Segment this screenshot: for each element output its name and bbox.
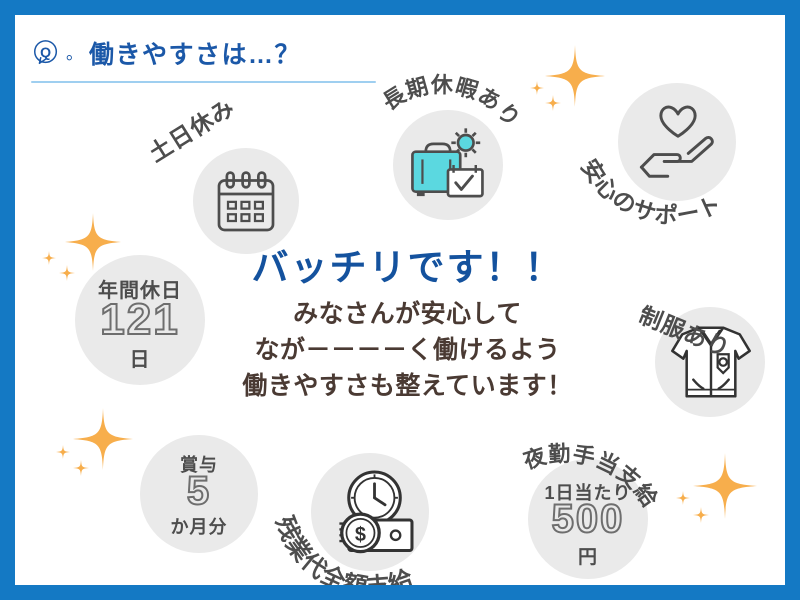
stat-value: 5 xyxy=(140,471,258,511)
badge-caption: 夜勤手当支給 xyxy=(520,441,663,512)
badge-caption: 長期休暇あり xyxy=(378,72,526,132)
badge-night-allowance: 1日当たり 500 円 夜勤手当支給 xyxy=(510,427,700,585)
header: Q 。 働きやすさは…？ xyxy=(31,31,391,93)
badge-caption-arc: 長期休暇あり xyxy=(373,47,563,237)
center-line-3: 働きやすさも整えています！ xyxy=(230,368,585,404)
center-line-1: みなさんが安心して xyxy=(230,296,585,332)
q-letter: Q xyxy=(40,44,51,60)
center-line-2: なが－－－－く働けるよう xyxy=(230,332,585,368)
header-maru: 。 xyxy=(65,45,85,62)
badge-caption-arc: 残業代全額支給 xyxy=(263,455,478,585)
center-message: バッチリです！！ みなさんが安心して なが－－－－く働けるよう 働きやすさも整え… xyxy=(230,247,585,404)
poster-canvas: Q 。 働きやすさは…？ xyxy=(15,15,785,585)
sparkle-decoration-bottom-left xyxy=(45,398,150,503)
badge-long-vacation: 長期休暇あり xyxy=(385,55,550,220)
stat-annual-holidays: 年間休日 121 日 xyxy=(75,255,205,385)
svg-text:夜勤手当支給: 夜勤手当支給 xyxy=(520,441,663,512)
infographic-poster: Q 。 働きやすさは…？ xyxy=(0,0,800,600)
svg-text:残業代全額支給: 残業代全額支給 xyxy=(270,513,417,585)
center-headline: バッチリです！！ xyxy=(230,247,585,290)
badge-caption-arc: 夜勤手当支給 xyxy=(510,419,705,559)
page-title: 働きやすさは…？ xyxy=(89,35,301,71)
header-divider xyxy=(31,81,376,83)
badge-caption: 安心のサポート xyxy=(576,154,726,228)
svg-text:長期休暇あり: 長期休暇あり xyxy=(378,72,526,132)
stat-value: 121 xyxy=(75,298,205,342)
svg-text:安心のサポート: 安心のサポート xyxy=(576,154,726,228)
badge-caption: 残業代全額支給 xyxy=(270,513,417,585)
stat-label-bottom: か月分 xyxy=(140,513,258,539)
header-row: Q 。 働きやすさは…？ xyxy=(31,31,391,75)
stat-label-bottom: 日 xyxy=(75,343,205,372)
badge-caption-arc: 安心のサポート xyxy=(560,70,765,265)
question-bubble-icon: Q xyxy=(31,38,61,68)
badge-overtime-pay: $ 残業代全額支給 xyxy=(263,445,478,585)
stat-bonus: 賞与 5 か月分 xyxy=(140,435,258,553)
badge-uniform: 制服あり xyxy=(633,265,785,420)
calendar-icon xyxy=(210,167,282,239)
badge-support: 安心のサポート xyxy=(560,70,765,260)
